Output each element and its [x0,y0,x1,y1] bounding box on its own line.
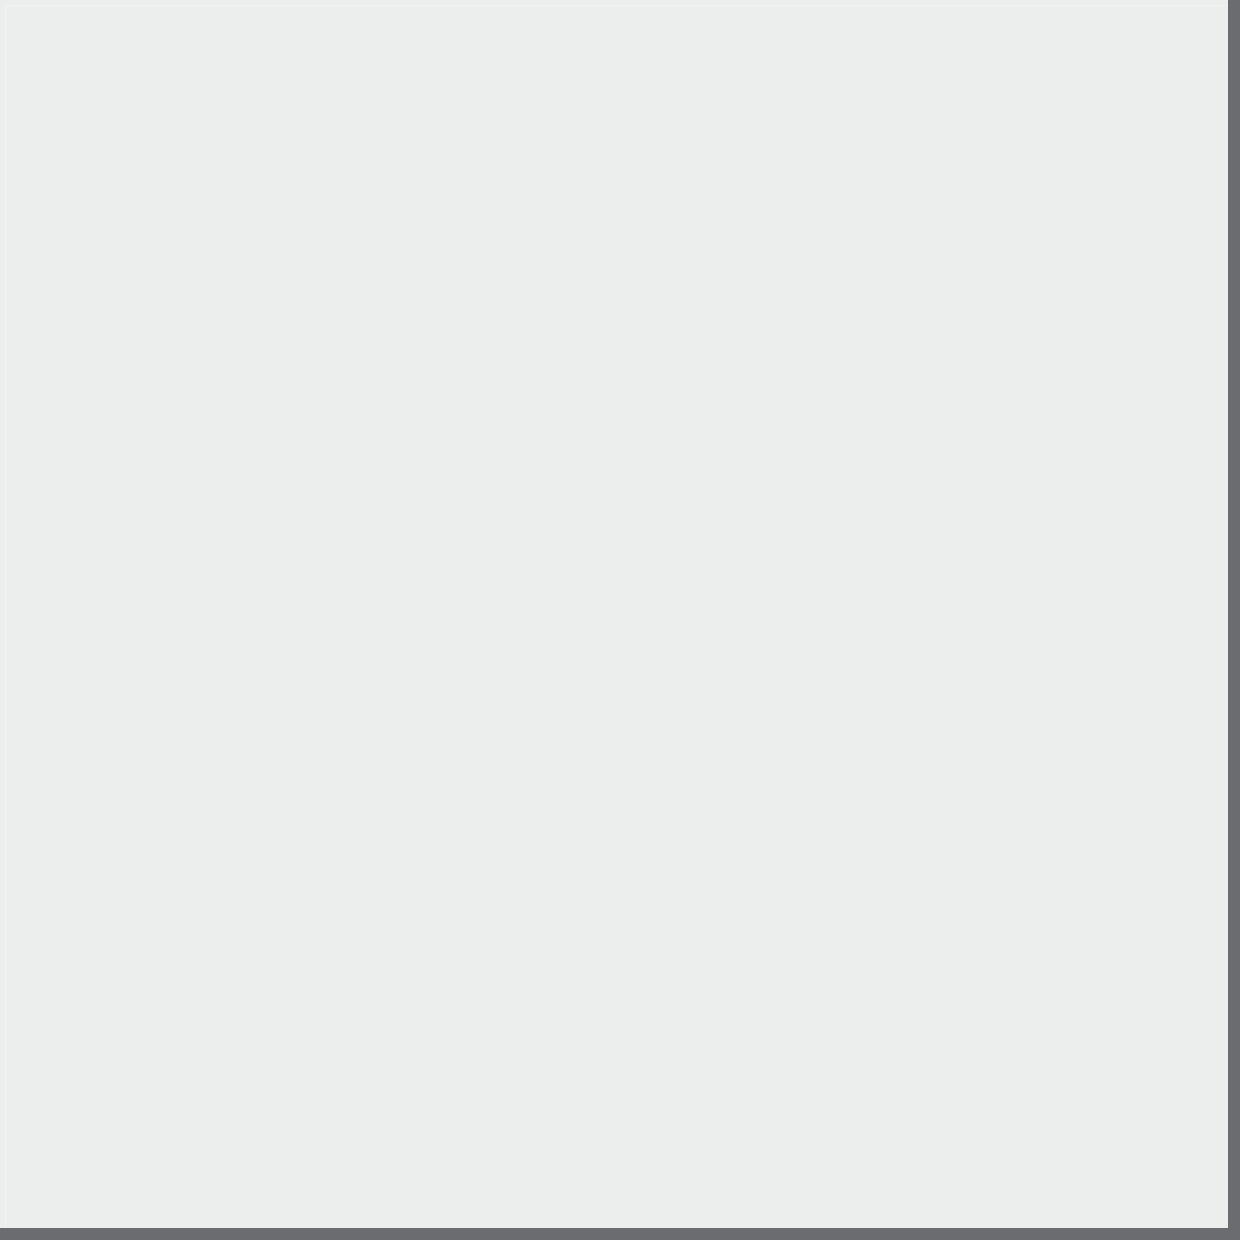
negative-to-positive-banner: NEGATIVE POSITIVE [65,712,1191,888]
positive-label: POSITIVE [748,712,1044,888]
graphic-canvas: TransformingEveryday Phrases Transformin… [0,0,1240,1240]
negative-corner-mask [65,712,125,772]
goodnet-logo: GOODNET GATEWAY TO DOING GOOD [733,1090,1059,1175]
logo-wordmark: GOODNET [733,1090,1059,1142]
panel-divider [630,6,633,1228]
negative-label: NEGATIVE [190,712,510,888]
bottom-edge-bar [0,1228,1240,1240]
right-light-panel [633,6,1228,1228]
left-dark-panel [6,6,630,1228]
logo-tagline: GATEWAY TO DOING GOOD [736,1152,1059,1175]
right-edge-bar [1228,0,1240,1240]
positive-corner-mask [1131,712,1191,772]
